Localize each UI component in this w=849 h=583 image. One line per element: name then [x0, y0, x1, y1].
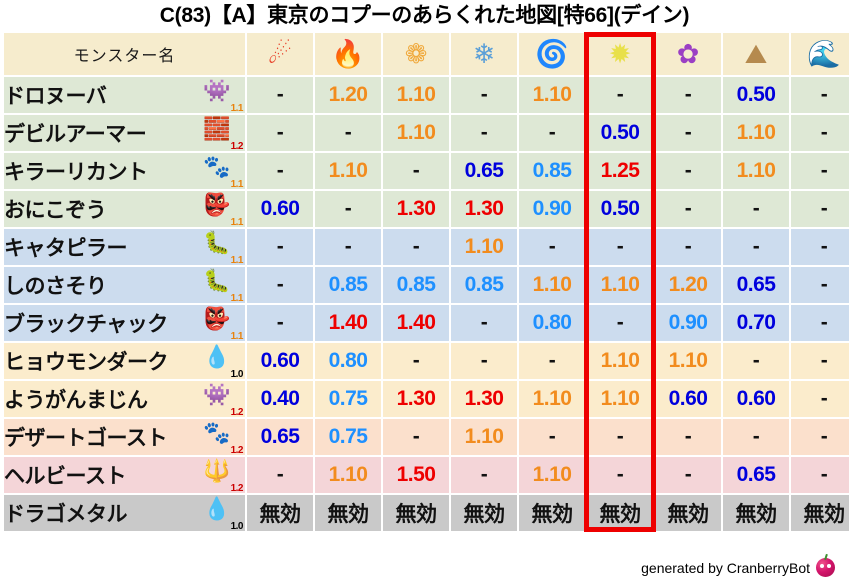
- resistance-value-cell: 1.10: [587, 381, 653, 417]
- resistance-value-cell: -: [655, 457, 721, 493]
- monster-name-cell[interactable]: ようがんまじん👾1.2: [4, 381, 245, 417]
- resistance-value-cell: 無効: [587, 495, 653, 531]
- purple-ghost-icon: 👾: [203, 78, 230, 104]
- monster-name-label: キラーリカント: [4, 156, 148, 186]
- resistance-value-cell: 0.85: [519, 153, 585, 189]
- resistance-value-cell: -: [451, 343, 517, 379]
- resistance-value-cell: -: [383, 343, 449, 379]
- resistance-value-cell: 無効: [791, 495, 849, 531]
- monster-version-label: 1.1: [231, 255, 243, 266]
- resistance-value-cell: 1.30: [383, 381, 449, 417]
- resistance-value-cell: -: [791, 77, 849, 113]
- monster-version-label: 1.1: [231, 217, 243, 228]
- table-header-row: モンスター名 ☄🔥❁❄🌀✹✿⛰🌊: [4, 33, 849, 75]
- resistance-value-cell: 1.10: [587, 343, 653, 379]
- resistance-value-cell: 0.65: [451, 153, 517, 189]
- column-header-element-9[interactable]: 🌊: [791, 33, 849, 75]
- resistance-value-cell: -: [791, 343, 849, 379]
- resistance-value-cell: 無効: [247, 495, 313, 531]
- purple-ghost-icon: 👾: [203, 382, 230, 408]
- water-drop-icon: 💧: [203, 344, 230, 370]
- resistance-value-cell: 0.90: [519, 191, 585, 227]
- resistance-value-cell: -: [519, 343, 585, 379]
- monster-badge: 👺1.1: [199, 306, 243, 340]
- resistance-value-cell: -: [587, 419, 653, 455]
- resistance-value-cell: 1.10: [587, 267, 653, 303]
- resistance-value-cell: -: [315, 115, 381, 151]
- resistance-value-cell: 0.50: [723, 77, 789, 113]
- table-row: キャタピラー🐛1.1---1.10-----: [4, 229, 849, 265]
- wave-icon: 🌊: [807, 37, 841, 71]
- monster-name-cell[interactable]: ブラックチャック👺1.1: [4, 305, 245, 341]
- monster-name-label: キャタピラー: [4, 232, 127, 262]
- column-header-element-1[interactable]: ☄: [247, 33, 313, 75]
- monster-version-label: 1.1: [231, 103, 243, 114]
- table-row: しのさそり🐛1.1-0.850.850.851.101.101.200.65-: [4, 267, 849, 303]
- monster-name-cell[interactable]: デザートゴースト🐾1.2: [4, 419, 245, 455]
- resistance-value-cell: 0.60: [723, 381, 789, 417]
- column-header-element-8[interactable]: ⛰: [723, 33, 789, 75]
- resistance-value-cell: -: [247, 229, 313, 265]
- resistance-value-cell: -: [655, 77, 721, 113]
- resistance-value-cell: -: [587, 229, 653, 265]
- table-row: ブラックチャック👺1.1-1.401.40-0.80-0.900.70-: [4, 305, 849, 341]
- resistance-value-cell: 1.20: [655, 267, 721, 303]
- tornado-icon: 🌀: [535, 37, 569, 71]
- resistance-value-cell: 1.10: [519, 77, 585, 113]
- resistance-value-cell: 1.10: [519, 457, 585, 493]
- resistance-value-cell: 0.50: [587, 115, 653, 151]
- footer: generated by CranberryBot: [641, 558, 835, 577]
- resistance-value-cell: -: [451, 77, 517, 113]
- column-header-element-7[interactable]: ✿: [655, 33, 721, 75]
- resistance-value-cell: 1.10: [519, 267, 585, 303]
- table-row: ようがんまじん👾1.20.400.751.301.301.101.100.600…: [4, 381, 849, 417]
- resistance-value-cell: 1.10: [383, 77, 449, 113]
- resistance-value-cell: -: [247, 153, 313, 189]
- resistance-value-cell: 0.65: [723, 267, 789, 303]
- paw-print-icon: 🐾: [203, 154, 230, 180]
- monster-version-label: 1.2: [231, 445, 243, 456]
- monster-name-cell[interactable]: キラーリカント🐾1.1: [4, 153, 245, 189]
- monster-badge: 💧1.0: [199, 344, 243, 378]
- monster-badge: 🐛1.1: [199, 230, 243, 264]
- resistance-value-cell: 無効: [383, 495, 449, 531]
- resistance-value-cell: 0.50: [587, 191, 653, 227]
- cranberry-icon: [816, 558, 835, 577]
- blue-slime-icon: 💧: [203, 496, 230, 522]
- column-header-element-2[interactable]: 🔥: [315, 33, 381, 75]
- resistance-value-cell: -: [655, 419, 721, 455]
- resistance-value-cell: -: [655, 153, 721, 189]
- table-row: ドロヌーバ👾1.1-1.201.10-1.10--0.50-: [4, 77, 849, 113]
- resistance-value-cell: -: [655, 229, 721, 265]
- green-slime-icon: 👺: [203, 306, 230, 332]
- resistance-value-cell: -: [791, 305, 849, 341]
- resistance-value-cell: 1.10: [655, 343, 721, 379]
- resistance-value-cell: 1.30: [383, 191, 449, 227]
- paw-print-icon: 🐾: [203, 420, 230, 446]
- column-header-element-4[interactable]: ❄: [451, 33, 517, 75]
- monster-name-cell[interactable]: おにこぞう👺1.1: [4, 191, 245, 227]
- monster-name-cell[interactable]: キャタピラー🐛1.1: [4, 229, 245, 265]
- resistance-value-cell: 無効: [723, 495, 789, 531]
- monster-name-label: ドロヌーバ: [4, 80, 106, 110]
- column-header-element-5[interactable]: 🌀: [519, 33, 585, 75]
- resistance-value-cell: 0.85: [315, 267, 381, 303]
- resistance-value-cell: -: [247, 77, 313, 113]
- table-row: おにこぞう👺1.10.60-1.301.300.900.50---: [4, 191, 849, 227]
- monster-version-label: 1.1: [231, 179, 243, 190]
- bug-face-icon: 🐛: [203, 230, 230, 256]
- monster-version-label: 1.2: [231, 141, 243, 152]
- resistance-value-cell: 0.80: [519, 305, 585, 341]
- resistance-value-cell: -: [655, 191, 721, 227]
- resistance-value-cell: -: [723, 343, 789, 379]
- brick-wall-icon: 🧱: [203, 116, 230, 142]
- resistance-value-cell: -: [723, 191, 789, 227]
- resistance-value-cell: -: [383, 153, 449, 189]
- monster-name-cell[interactable]: ドラゴメタル💧1.0: [4, 495, 245, 531]
- resistance-value-cell: -: [315, 229, 381, 265]
- resistance-value-cell: -: [247, 267, 313, 303]
- table-row: ドラゴメタル💧1.0無効無効無効無効無効無効無効無効無効: [4, 495, 849, 531]
- resistance-value-cell: 1.10: [723, 153, 789, 189]
- resistance-value-cell: 1.40: [383, 305, 449, 341]
- resistance-value-cell: -: [791, 457, 849, 493]
- green-slime-icon: 👺: [203, 192, 230, 218]
- bug-face-icon: 🐛: [203, 268, 230, 294]
- column-header-element-6[interactable]: ✹: [587, 33, 653, 75]
- resistance-value-cell: -: [519, 229, 585, 265]
- table-row: ヘルビースト🔱1.2-1.101.50-1.10--0.65-: [4, 457, 849, 493]
- resistance-value-cell: -: [791, 115, 849, 151]
- resistance-value-cell: -: [723, 419, 789, 455]
- resistance-value-cell: -: [791, 153, 849, 189]
- column-header-element-3[interactable]: ❁: [383, 33, 449, 75]
- resistance-value-cell: -: [519, 419, 585, 455]
- resistance-value-cell: 0.80: [315, 343, 381, 379]
- resistance-value-cell: -: [587, 305, 653, 341]
- resistance-value-cell: -: [315, 191, 381, 227]
- resistance-value-cell: 0.40: [247, 381, 313, 417]
- column-header-monster-name: モンスター名: [4, 33, 245, 75]
- resistance-value-cell: -: [247, 457, 313, 493]
- resistance-value-cell: -: [791, 267, 849, 303]
- resistance-value-cell: 1.10: [315, 153, 381, 189]
- resistance-value-cell: 1.10: [383, 115, 449, 151]
- monster-name-label: おにこぞう: [4, 194, 106, 224]
- monster-badge: 🐾1.2: [199, 420, 243, 454]
- monster-name-label: デザートゴースト: [4, 422, 167, 452]
- light-star-icon: ✹: [603, 37, 637, 71]
- monster-name-label: ブラックチャック: [4, 308, 168, 338]
- resistance-value-cell: -: [791, 191, 849, 227]
- monster-name-label: デビルアーマー: [4, 118, 146, 148]
- monster-badge: 🐛1.1: [199, 268, 243, 302]
- resistance-value-cell: 無効: [655, 495, 721, 531]
- resistance-value-cell: -: [383, 419, 449, 455]
- monster-name-label: ヘルビースト: [4, 460, 126, 490]
- resistance-value-cell: 1.50: [383, 457, 449, 493]
- resistance-value-cell: 無効: [315, 495, 381, 531]
- dark-flower-icon: ✿: [671, 37, 705, 71]
- resistance-value-cell: -: [451, 457, 517, 493]
- monster-name-cell[interactable]: デビルアーマー🧱1.2: [4, 115, 245, 151]
- monster-name-cell[interactable]: ドロヌーバ👾1.1: [4, 77, 245, 113]
- resistance-value-cell: -: [655, 115, 721, 151]
- table-row: デビルアーマー🧱1.2--1.10--0.50-1.10-: [4, 115, 849, 151]
- flame-icon: 🔥: [331, 37, 365, 71]
- resistance-value-cell: 1.40: [315, 305, 381, 341]
- monster-badge: 👾1.2: [199, 382, 243, 416]
- resistance-value-cell: -: [519, 115, 585, 151]
- resistance-value-cell: 1.10: [723, 115, 789, 151]
- resistance-value-cell: 0.85: [451, 267, 517, 303]
- monster-name-label: しのさそり: [4, 270, 107, 300]
- earth-clover-icon: ❁: [399, 37, 433, 71]
- monster-version-label: 1.2: [231, 407, 243, 418]
- monster-version-label: 1.2: [231, 483, 243, 494]
- resistance-value-cell: 0.90: [655, 305, 721, 341]
- resistance-value-cell: 0.70: [723, 305, 789, 341]
- resistance-value-cell: -: [791, 229, 849, 265]
- resistance-value-cell: 無効: [519, 495, 585, 531]
- monster-badge: 🧱1.2: [199, 116, 243, 150]
- table-body: ドロヌーバ👾1.1-1.201.10-1.10--0.50-デビルアーマー🧱1.…: [4, 77, 849, 531]
- resistance-value-cell: 1.30: [451, 381, 517, 417]
- resistance-value-cell: 1.25: [587, 153, 653, 189]
- resistance-value-cell: -: [587, 457, 653, 493]
- monster-version-label: 1.1: [231, 331, 243, 342]
- monster-badge: 👺1.1: [199, 192, 243, 226]
- resistance-value-cell: 0.75: [315, 381, 381, 417]
- resistance-value-cell: 1.10: [519, 381, 585, 417]
- resistance-value-cell: -: [791, 381, 849, 417]
- mountain-icon: ⛰: [739, 37, 773, 71]
- resistance-value-cell: -: [247, 305, 313, 341]
- resistance-value-cell: -: [451, 115, 517, 151]
- resistance-value-cell: -: [791, 419, 849, 455]
- resistance-value-cell: -: [383, 229, 449, 265]
- monster-name-label: ようがんまじん: [4, 384, 148, 414]
- meteor-icon: ☄: [263, 37, 297, 71]
- resistance-value-cell: 1.10: [451, 419, 517, 455]
- monster-badge: 👾1.1: [199, 78, 243, 112]
- resistance-value-cell: 無効: [451, 495, 517, 531]
- resistance-value-cell: 0.75: [315, 419, 381, 455]
- monster-badge: 💧1.0: [199, 496, 243, 530]
- monster-name-cell[interactable]: しのさそり🐛1.1: [4, 267, 245, 303]
- resistance-value-cell: 1.20: [315, 77, 381, 113]
- resistance-table: モンスター名 ☄🔥❁❄🌀✹✿⛰🌊 ドロヌーバ👾1.1-1.201.10-1.10…: [2, 31, 849, 533]
- resistance-value-cell: -: [723, 229, 789, 265]
- resistance-value-cell: -: [247, 115, 313, 151]
- monster-name-cell[interactable]: ヒョウモンダーク💧1.0: [4, 343, 245, 379]
- resistance-value-cell: 1.10: [315, 457, 381, 493]
- monster-version-label: 1.0: [231, 521, 243, 532]
- monster-version-label: 1.0: [231, 369, 243, 380]
- resistance-value-cell: 0.65: [247, 419, 313, 455]
- table-row: ヒョウモンダーク💧1.00.600.80---1.101.10--: [4, 343, 849, 379]
- footer-text: generated by CranberryBot: [641, 560, 810, 576]
- monster-badge: 🔱1.2: [199, 458, 243, 492]
- resistance-value-cell: 1.10: [451, 229, 517, 265]
- monster-name-cell[interactable]: ヘルビースト🔱1.2: [4, 457, 245, 493]
- resistance-value-cell: 0.60: [247, 191, 313, 227]
- resistance-value-cell: 0.65: [723, 457, 789, 493]
- monster-badge: 🐾1.1: [199, 154, 243, 188]
- monster-name-label: ドラゴメタル: [4, 498, 127, 528]
- resistance-value-cell: 0.60: [247, 343, 313, 379]
- snowflake-icon: ❄: [467, 37, 501, 71]
- resistance-value-cell: -: [451, 305, 517, 341]
- resistance-value-cell: 1.30: [451, 191, 517, 227]
- resistance-value-cell: -: [587, 77, 653, 113]
- monster-version-label: 1.1: [231, 293, 243, 304]
- page-title: C(83)【A】東京のコプーのあらくれた地図[特66](デイン): [0, 0, 849, 31]
- table-row: デザートゴースト🐾1.20.650.75-1.10-----: [4, 419, 849, 455]
- monster-name-label: ヒョウモンダーク: [4, 346, 168, 376]
- resistance-value-cell: 0.60: [655, 381, 721, 417]
- table-row: キラーリカント🐾1.1-1.10-0.650.851.25-1.10-: [4, 153, 849, 189]
- purple-trident-icon: 🔱: [203, 458, 230, 484]
- resistance-value-cell: 0.85: [383, 267, 449, 303]
